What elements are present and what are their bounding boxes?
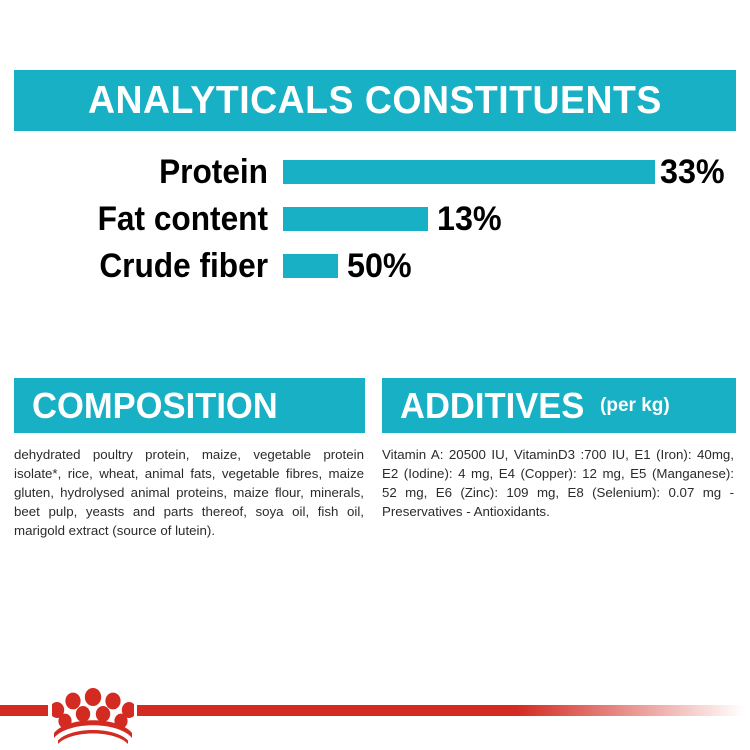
bar-value-crude-fiber: 50% — [347, 246, 412, 286]
bar-fill-protein — [283, 160, 655, 184]
footer — [0, 688, 750, 750]
analyticals-header-banner: ANALYTICALS CONSTITUENTS — [14, 70, 736, 131]
bar-label-crude-fiber: Crude fiber — [19, 246, 268, 286]
additives-title: ADDITIVES — [400, 388, 584, 424]
composition-header-banner: COMPOSITION — [14, 378, 365, 433]
page-title: ANALYTICALS CONSTITUENTS — [88, 81, 662, 120]
composition-title: COMPOSITION — [32, 388, 278, 424]
additives-header-banner: ADDITIVES (per kg) — [382, 378, 736, 433]
chart-row: Crude fiber 50% — [0, 246, 750, 286]
bar-track-protein — [283, 160, 655, 184]
additives-section: ADDITIVES (per kg) Vitamin A: 20500 IU, … — [382, 378, 736, 521]
composition-body-text: dehydrated poultry protein, maize, veget… — [14, 445, 364, 540]
bar-label-fat-content: Fat content — [19, 199, 268, 239]
footer-rule-left — [0, 705, 48, 716]
bar-track-fat-content — [283, 207, 428, 231]
composition-section: COMPOSITION dehydrated poultry protein, … — [14, 378, 365, 540]
chart-row: Protein 33% — [0, 152, 750, 192]
bar-fill-fat-content — [283, 207, 428, 231]
additives-unit-label: (per kg) — [600, 396, 670, 415]
bar-fill-crude-fiber — [283, 254, 338, 278]
chart-row: Fat content 13% — [0, 199, 750, 239]
bar-track-crude-fiber — [283, 254, 338, 278]
additives-body-text: Vitamin A: 20500 IU, VitaminD3 :700 IU, … — [382, 445, 734, 521]
bar-value-fat-content: 13% — [437, 199, 502, 239]
bar-value-protein: 33% — [660, 152, 725, 192]
footer-rule-right — [137, 705, 750, 716]
royal-canin-crown-icon — [52, 688, 134, 744]
bar-label-protein: Protein — [19, 152, 268, 192]
analyticals-bar-chart: Protein 33% Fat content 13% Crude fiber … — [0, 148, 750, 293]
